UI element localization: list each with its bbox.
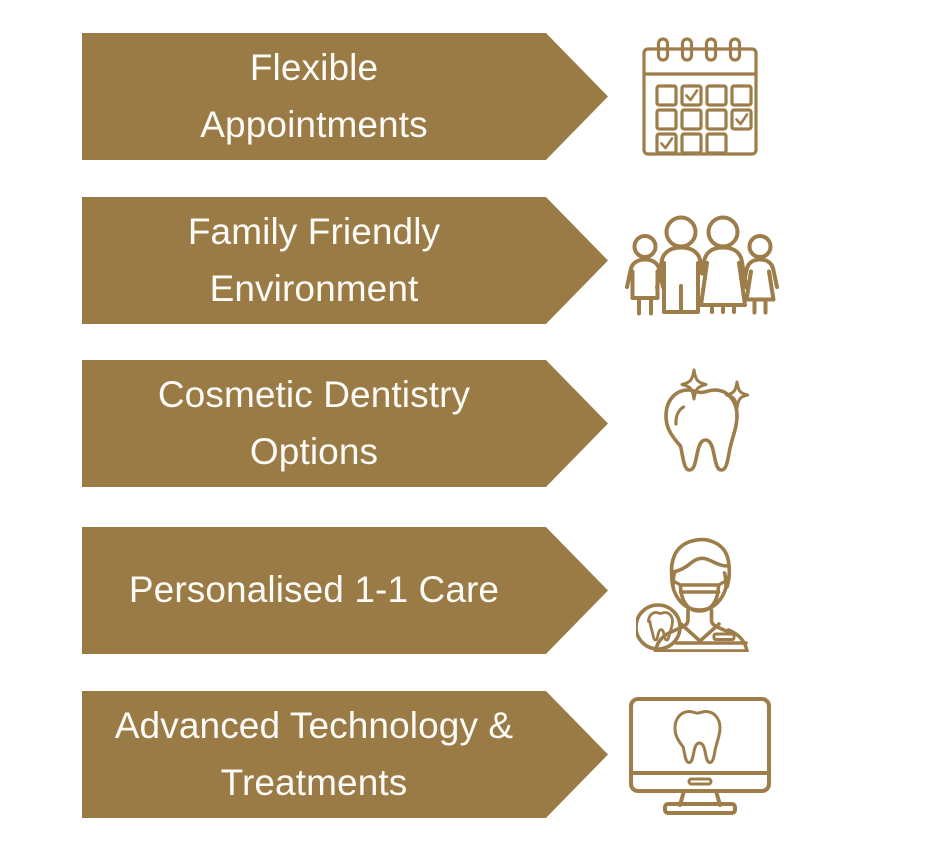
benefit-row-advanced-technology-treatments: Advanced Technology & Treatments xyxy=(0,691,940,818)
monitor-tooth-icon xyxy=(627,695,773,815)
icon-slot-family-friendly-environment xyxy=(612,197,788,324)
icon-slot-advanced-technology-treatments xyxy=(618,691,782,818)
banner-personalised-1-1-care[interactable]: Personalised 1-1 Care xyxy=(82,527,608,654)
icon-slot-cosmetic-dentistry-options xyxy=(630,360,770,487)
sparkling-tooth-icon xyxy=(642,364,758,484)
dental-benefits-infographic: Flexible Appointments xyxy=(0,0,940,842)
banner-label-personalised-1-1-care: Personalised 1-1 Care xyxy=(82,568,546,612)
banner-label-flexible-appointments: Flexible Appointments xyxy=(82,40,546,152)
family-icon xyxy=(621,206,779,316)
banner-cosmetic-dentistry-options[interactable]: Cosmetic Dentistry Options xyxy=(82,360,608,487)
banner-flexible-appointments[interactable]: Flexible Appointments xyxy=(82,33,608,160)
icon-slot-flexible-appointments xyxy=(620,33,780,160)
benefit-row-cosmetic-dentistry-options: Cosmetic Dentistry Options xyxy=(0,360,940,487)
banner-advanced-technology-treatments[interactable]: Advanced Technology & Treatments xyxy=(82,691,608,818)
banner-label-cosmetic-dentistry-options: Cosmetic Dentistry Options xyxy=(82,367,546,479)
dentist-icon xyxy=(636,530,764,652)
banner-family-friendly-environment[interactable]: Family Friendly Environment xyxy=(82,197,608,324)
icon-slot-personalised-1-1-care xyxy=(622,527,778,654)
banner-label-advanced-technology-treatments: Advanced Technology & Treatments xyxy=(82,698,546,810)
banner-label-family-friendly-environment: Family Friendly Environment xyxy=(82,204,546,316)
benefit-row-flexible-appointments: Flexible Appointments xyxy=(0,33,940,160)
benefit-row-family-friendly-environment: Family Friendly Environment xyxy=(0,197,940,324)
calendar-icon xyxy=(640,36,760,158)
benefit-row-personalised-1-1-care: Personalised 1-1 Care xyxy=(0,527,940,654)
